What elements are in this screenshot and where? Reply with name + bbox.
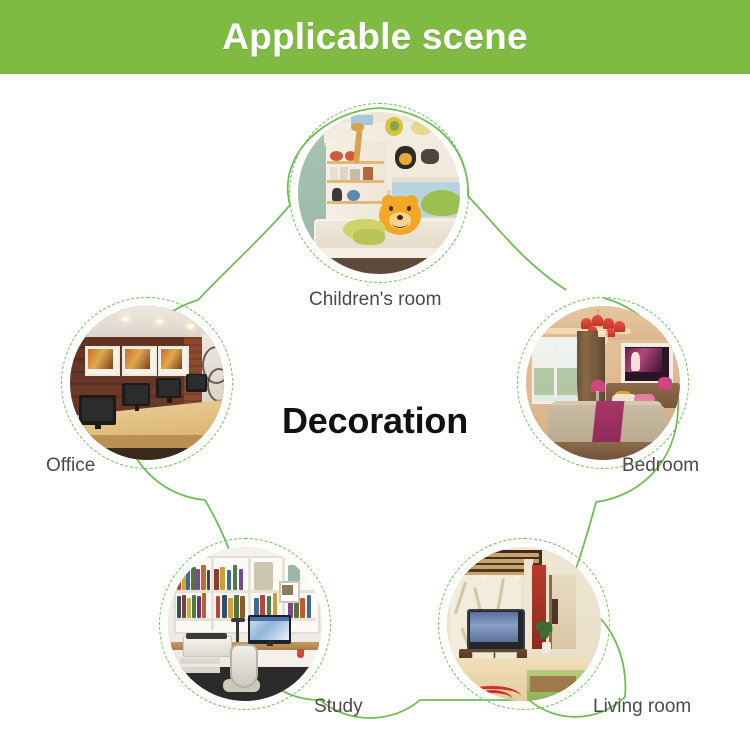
node-label-living-room: Living room — [593, 696, 691, 718]
node-children-room[interactable]: Children's room — [289, 103, 469, 283]
node-label-study: Study — [314, 696, 363, 718]
node-study[interactable]: Study — [159, 538, 331, 710]
photo-study[interactable] — [168, 547, 322, 701]
node-living-room[interactable]: Living room — [438, 538, 610, 710]
infographic-canvas: Applicable scene — [0, 0, 750, 750]
photo-children-room[interactable] — [298, 112, 460, 274]
node-bedroom[interactable]: Bedroom — [517, 297, 689, 469]
node-label-office: Office — [46, 455, 95, 477]
center-label: Decoration — [0, 400, 750, 442]
node-label-children-room: Children's room — [309, 289, 441, 311]
node-label-bedroom: Bedroom — [622, 455, 699, 477]
node-office[interactable]: Office — [61, 297, 233, 469]
photo-living-room[interactable] — [447, 547, 601, 701]
